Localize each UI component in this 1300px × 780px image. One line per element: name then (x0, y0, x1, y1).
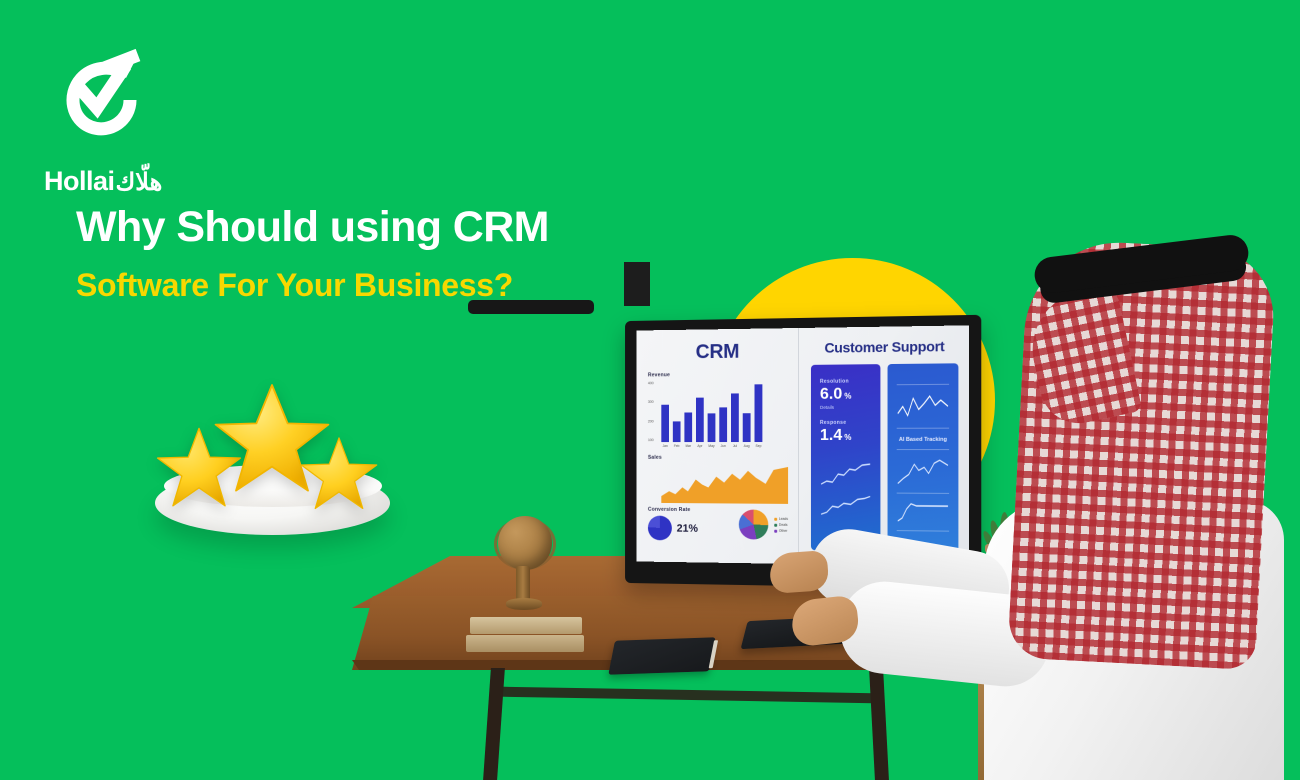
stacked-books-icon (466, 611, 586, 657)
metric-unit: % (844, 433, 851, 442)
bar (696, 398, 704, 442)
divider (897, 449, 949, 450)
brand-wordmark: Hollaiهلّاك (44, 168, 162, 195)
revenue-x-axis: Jan Feb Mar Apr May Jun Jul Aug Sep (661, 444, 788, 448)
y-tick: 100 (648, 438, 661, 442)
page-title: Why Should using CRM Software For Your B… (76, 203, 716, 304)
checkmark-swoosh-logo-icon (52, 38, 152, 138)
x-tick: Aug (743, 444, 751, 448)
metric-value: 1.4% (820, 428, 871, 445)
metric-number: 1.4 (820, 427, 842, 444)
globe-foot (506, 598, 542, 610)
metric-unit: % (844, 392, 851, 401)
tracking-card[interactable]: AI Based Tracking (888, 363, 959, 552)
bar (661, 404, 669, 442)
bar (731, 393, 739, 442)
sparkline-chart (820, 461, 871, 487)
legend-label: Deals (779, 523, 788, 527)
person-hand (769, 550, 830, 594)
divider (897, 530, 949, 532)
legend-label: Leads (779, 517, 788, 521)
desk-globe-icon (494, 516, 554, 616)
star-icon (298, 433, 380, 515)
monitor-stand-neck (624, 262, 650, 306)
banner-canvas: Hollaiهلّاك Why Should using CRM Softwar… (0, 0, 1300, 780)
revenue-bar-chart: 400 300 200 100 (661, 380, 788, 442)
bar (684, 413, 692, 442)
legend-label: Other (779, 529, 787, 533)
revenue-y-axis: 400 300 200 100 (648, 381, 661, 442)
brand-name-arabic: هلّاك (116, 169, 163, 196)
conversion-rate-value: 21% (677, 522, 698, 534)
bar (743, 414, 751, 442)
brand-logo[interactable]: Hollaiهلّاك (44, 38, 224, 186)
x-tick: Jun (719, 444, 727, 448)
dashboard-screen[interactable]: CRM Revenue 400 300 200 100 (636, 325, 968, 566)
y-tick: 200 (648, 419, 661, 423)
legend-item: Other (774, 529, 788, 533)
x-tick: Jan (661, 444, 669, 448)
book (466, 635, 584, 652)
headline-line-1: Why Should using CRM (76, 203, 716, 251)
metrics-card[interactable]: Resolution 6.0% Details Response 1.4% (811, 364, 880, 551)
shemagh-headscarf (1007, 238, 1277, 670)
desk-leg (869, 668, 889, 780)
x-tick: Sep (755, 444, 763, 448)
desk-leg (483, 668, 505, 780)
bar (673, 421, 681, 442)
x-tick: May (708, 444, 716, 448)
customer-support-title: Customer Support (811, 338, 958, 356)
support-cards: Resolution 6.0% Details Response 1.4% (811, 363, 958, 552)
black-notebook-icon (608, 637, 715, 674)
metric-number: 6.0 (820, 386, 842, 403)
customer-support-panel: Customer Support Resolution 6.0% Details… (799, 325, 969, 566)
conversion-rate-row: Conversion Rate 21% Leads Deals Other (648, 507, 788, 542)
globe-stem (516, 566, 530, 602)
metric-value: 6.0% (820, 386, 871, 403)
revenue-chart-label: Revenue (648, 371, 788, 378)
metric-label: Resolution (820, 378, 871, 384)
bar (719, 407, 727, 442)
bar (755, 384, 763, 442)
segment-pie-chart (739, 509, 768, 539)
sparkline-chart (820, 493, 871, 518)
y-tick: 300 (648, 400, 661, 404)
globe-sphere (498, 516, 552, 570)
three-gold-stars-on-podium-icon (150, 375, 400, 555)
line-chart (897, 456, 949, 487)
legend-item: Deals (774, 523, 788, 527)
x-tick: Feb (673, 444, 681, 448)
line-chart (897, 391, 949, 422)
divider (897, 493, 949, 494)
metric-label: Response (820, 420, 871, 426)
crm-panel: CRM Revenue 400 300 200 100 (636, 328, 799, 564)
pie-legend: Leads Deals Other (774, 517, 788, 533)
tracking-card-title: AI Based Tracking (897, 437, 949, 443)
man-in-thobe-and-shemagh-at-desk-icon (960, 200, 1300, 780)
headline-line-2: Software For Your Business? (76, 267, 716, 304)
legend-item: Leads (774, 517, 788, 521)
line-chart (897, 500, 949, 525)
monitor-stand-base (468, 300, 594, 314)
x-tick: Apr (696, 444, 704, 448)
crm-panel-title: CRM (648, 340, 788, 364)
divider (897, 384, 949, 385)
y-tick: 400 (648, 381, 661, 385)
divider (897, 428, 949, 429)
x-tick: Mar (684, 444, 692, 448)
brand-name-latin: Hollai (44, 166, 115, 196)
sales-area-chart (661, 464, 788, 504)
sales-chart-label: Sales (648, 455, 788, 461)
conversion-donut-chart (648, 516, 672, 541)
book (470, 617, 582, 634)
conversion-rate-label: Conversion Rate (648, 507, 733, 514)
bar (708, 413, 716, 442)
x-tick: Jul (731, 444, 739, 448)
desk-brace (500, 687, 880, 704)
metric-sublabel: Details (820, 404, 871, 409)
